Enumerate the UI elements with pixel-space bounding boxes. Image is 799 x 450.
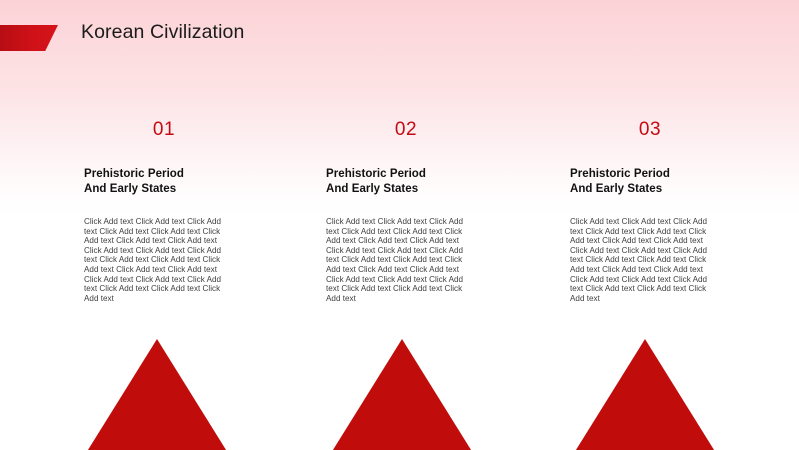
column-heading-3: Prehistoric Period And Early States [570,167,730,197]
header-banner-shape [0,25,58,51]
column-body-3[interactable]: Click Add text Click Add text Click Add … [570,217,715,303]
content-column-2: 02 Prehistoric Period And Early States C… [326,118,486,303]
column-heading-3-line1: Prehistoric Period [570,168,670,180]
column-heading-1: Prehistoric Period And Early States [84,167,244,197]
column-number-3: 03 [570,118,730,146]
column-body-1[interactable]: Click Add text Click Add text Click Add … [84,217,232,303]
content-column-1: 01 Prehistoric Period And Early States C… [84,118,244,303]
column-heading-2-line2: And Early States [326,182,486,197]
page-title: Korean Civilization [81,21,244,44]
triangle-graphic-3 [561,339,729,450]
column-heading-2-line1: Prehistoric Period [326,168,426,180]
column-number-1: 01 [84,118,244,146]
slide-canvas: Korean Civilization 01 Prehistoric Perio… [0,0,799,450]
column-heading-1-line2: And Early States [84,182,244,197]
content-column-3: 03 Prehistoric Period And Early States C… [570,118,730,303]
triangle-graphic-2 [318,339,486,450]
triangle-graphic-1 [73,339,241,450]
column-body-2[interactable]: Click Add text Click Add text Click Add … [326,217,469,303]
column-number-2: 02 [326,118,486,146]
column-heading-2: Prehistoric Period And Early States [326,167,486,197]
column-heading-1-line1: Prehistoric Period [84,168,184,180]
column-heading-3-line2: And Early States [570,182,730,197]
